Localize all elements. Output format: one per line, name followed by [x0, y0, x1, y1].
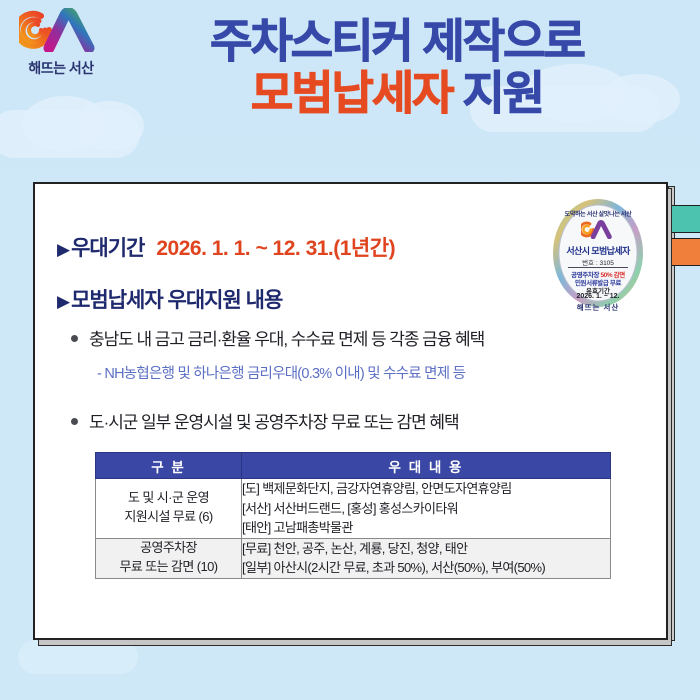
heading-period-value: 2026. 1. 1. ~ 12. 31.(1년간): [156, 237, 395, 260]
table-cell-category: 도 및 시·군 운영 지원시설 무료 (6): [96, 479, 242, 539]
heading-period-label: 우대기간: [71, 237, 144, 260]
title-line-1: 주차스티커 제작으로: [104, 14, 690, 68]
city-logo-label: 해뜨는 서산: [14, 58, 108, 78]
poster-title: 주차스티커 제작으로 모범납세자지원: [104, 14, 690, 121]
sunrise-mountain-logo-icon: [14, 8, 108, 57]
title-line-2-red: 모범납세자: [251, 67, 453, 119]
bullet-item-text: 도·시군 일부 운영시설 및 공영주차장 무료 또는 감면 혜택: [89, 413, 459, 432]
heading-benefits: ▶모범납세자 우대지원 내용: [57, 284, 282, 314]
bullet-item-text: 충남도 내 금고 금리·환율 우대, 수수료 면제 등 각종 금융 혜택: [89, 330, 484, 349]
table-row: 공영주차장 무료 또는 감면 (10) [무료] 천안, 공주, 논산, 계룡,…: [96, 538, 611, 578]
card-content: ▶우대기간2026. 1. 1. ~ 12. 31.(1년간) ▶모범납세자 우…: [35, 184, 666, 638]
table-header-row: 구 분 우 대 내 용: [96, 453, 611, 479]
table-row: 도 및 시·군 운영 지원시설 무료 (6) [도] 백제문화단지, 금강자연휴…: [96, 479, 611, 539]
table-cell-category: 공영주차장 무료 또는 감면 (10): [96, 538, 242, 578]
benefit-table: 구 분 우 대 내 용 도 및 시·군 운영 지원시설 무료 (6) [도] 백…: [95, 452, 611, 579]
side-tab-teal[interactable]: [669, 205, 700, 233]
side-tab-orange[interactable]: [669, 238, 700, 266]
table-cell-description: [무료] 천안, 공주, 논산, 계룡, 당진, 청양, 태안 [일부] 아산시…: [242, 538, 611, 578]
city-logo: 해뜨는 서산: [14, 8, 108, 74]
sub-bullet-item: - NH농협은행 및 하나은행 금리우대(0.3% 이내) 및 수수료 면제 등: [97, 362, 465, 383]
triangle-marker-icon: ▶: [57, 240, 69, 259]
content-card: 도약하는 서산 살맛나는 서산 서산시 모범납세자 번호 : 3105 공영주차…: [33, 182, 668, 640]
bullet-dot-icon: [71, 418, 78, 425]
title-line-2: 모범납세자지원: [104, 66, 690, 120]
heading-benefits-label: 모범납세자 우대지원 내용: [71, 289, 282, 312]
bullet-item: 충남도 내 금고 금리·환율 우대, 수수료 면제 등 각종 금융 혜택: [71, 325, 484, 350]
heading-period: ▶우대기간2026. 1. 1. ~ 12. 31.(1년간): [57, 232, 395, 262]
table-cell-description: [도] 백제문화단지, 금강자연휴양림, 안면도자연휴양림 [서산] 서산버드랜…: [242, 479, 611, 539]
triangle-marker-icon: ▶: [57, 292, 69, 311]
bullet-item: 도·시군 일부 운영시설 및 공영주차장 무료 또는 감면 혜택: [71, 408, 459, 433]
title-line-2-blue: 지원: [462, 67, 543, 119]
table-header-category: 구 분: [96, 453, 242, 479]
bullet-dot-icon: [71, 335, 78, 342]
table-header-description: 우 대 내 용: [242, 453, 611, 479]
header: 해뜨는 서산 주차스티커 제작으로 모범납세자지원: [0, 0, 700, 170]
